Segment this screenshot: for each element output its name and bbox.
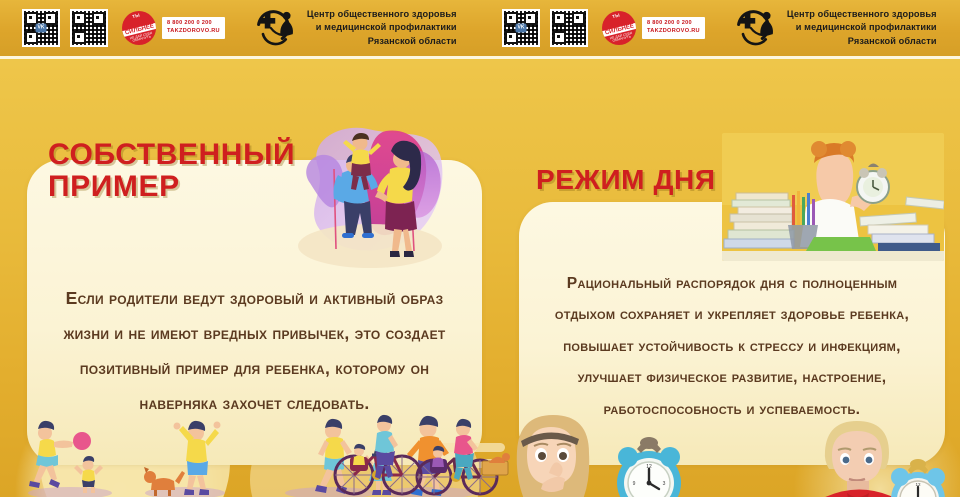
svg-text:12: 12 (915, 482, 921, 487)
qr-code-vk-icon[interactable]: VK (22, 9, 60, 47)
right-panel-body: Рациональный распорядок дня с полноценны… (519, 268, 945, 425)
right-body-line: отдыхом сохраняет и укрепляет здоровье р… (519, 299, 945, 330)
hotline-text: 8 800 200 0 200 TAKZDOROVO.RU (642, 17, 705, 38)
boy-with-alarm-clock-photo: 123 69 (775, 417, 950, 497)
left-panel-title: СОБСТВЕННЫЙ ПРИМЕР (48, 139, 295, 204)
hotline-text: 8 800 200 0 200 TAKZDOROVO.RU (162, 17, 225, 38)
left-panel-body: Если родители ведут здоровый и активный … (27, 281, 482, 421)
header-banner: VK ТЫ СИЛЬНЕЕ НЕ ДАЙ СЕБЯ ОБМАНУТЬ 8 8 (0, 0, 960, 56)
right-panel-title: РЕЖИМ ДНЯ (536, 165, 716, 195)
right-body-line: улучшает физическое развитие, настроение… (519, 362, 945, 393)
takzdorovo-seal-icon: ТЫ СИЛЬНЕЕ НЕ ДАЙ СЕБЯ ОБМАНУТЬ (602, 11, 636, 45)
org-logo-block: Центр общественного здоровья и медицинск… (735, 7, 937, 49)
right-body-line: Рациональный распорядок дня с полноценны… (519, 268, 945, 299)
svg-text:9: 9 (633, 481, 636, 487)
qr-code-site-icon[interactable] (70, 9, 108, 47)
left-body-line: жизни и не имеют вредных привычек, это с… (27, 316, 482, 351)
health-center-logo-icon (255, 7, 299, 49)
takzdorovo-seal-icon: ТЫ СИЛЬНЕЕ НЕ ДАЙ СЕБЯ ОБМАНУТЬ (122, 11, 156, 45)
left-body-line: позитивный пример для ребенка, которому … (27, 351, 482, 386)
header-half-left: VK ТЫ СИЛЬНЕЕ НЕ ДАЙ СЕБЯ ОБМАНУТЬ 8 8 (0, 0, 480, 56)
qr-code-site-icon[interactable] (550, 9, 588, 47)
qr-code-vk-icon[interactable]: VK (502, 9, 540, 47)
org-name: Центр общественного здоровья и медицинск… (307, 8, 457, 47)
org-logo-block: Центр общественного здоровья и медицинск… (255, 7, 457, 49)
poster-canvas: VK ТЫ СИЛЬНЕЕ НЕ ДАЙ СЕБЯ ОБМАНУТЬ 8 8 (0, 0, 960, 497)
cycling-family-illustration (330, 413, 515, 497)
health-center-logo-icon (735, 7, 779, 49)
right-body-line: повышает устойчивость к стрессу и инфекц… (519, 331, 945, 362)
svg-text:12: 12 (646, 464, 652, 470)
girl-with-books-photo (722, 133, 944, 261)
takzdorovo-badge[interactable]: ТЫ СИЛЬНЕЕ НЕ ДАЙ СЕБЯ ОБМАНУТЬ 8 800 20… (602, 11, 705, 45)
header-half-right: VK ТЫ СИЛЬНЕЕ НЕ ДАЙ СЕБЯ ОБМАНУТЬ 8 8 (480, 0, 960, 56)
takzdorovo-badge[interactable]: ТЫ СИЛЬНЕЕ НЕ ДАЙ СЕБЯ ОБМАНУТЬ 8 800 20… (122, 11, 225, 45)
family-illustration (290, 121, 450, 273)
org-name: Центр общественного здоровья и медицинск… (787, 8, 937, 47)
left-body-line: Если родители ведут здоровый и активный … (27, 281, 482, 316)
poster-body: СОБСТВЕННЫЙ ПРИМЕР РЕЖИМ ДНЯ Если родите… (0, 59, 960, 497)
vk-logo-icon: VK (36, 24, 47, 33)
svg-text:3: 3 (663, 481, 666, 487)
girl-with-alarm-clock-photo: 123 69 (497, 411, 687, 497)
vk-logo-icon: VK (516, 24, 527, 33)
